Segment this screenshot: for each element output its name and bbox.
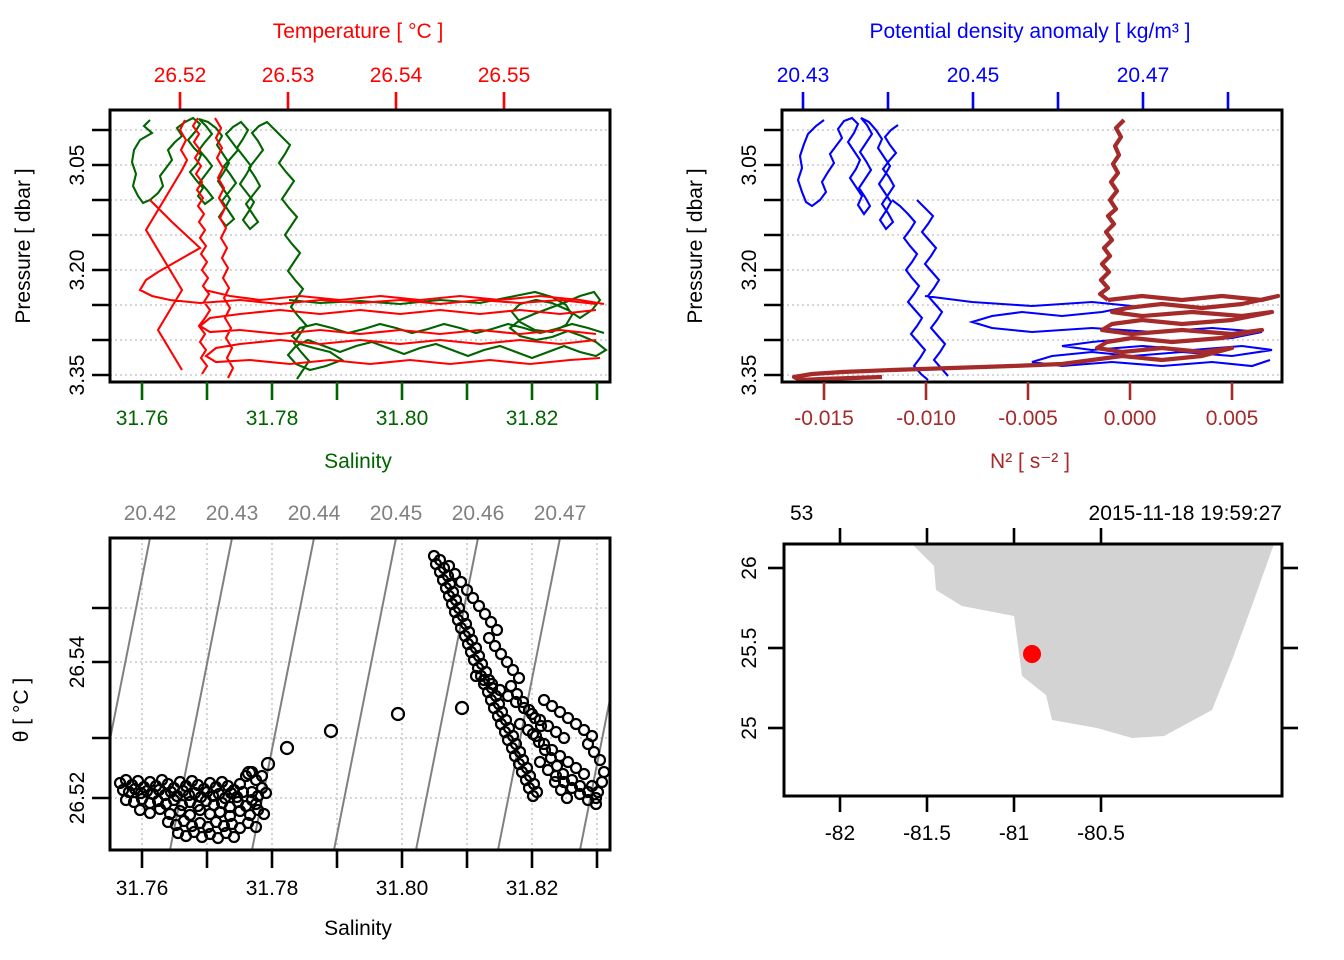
- svg-text:31.82: 31.82: [506, 407, 559, 430]
- density-label-text: Potential density anomaly [ kg/m³ ]: [870, 20, 1191, 43]
- y-axis-ticks-pressure: [92, 130, 110, 375]
- panel-temperature-salinity-profile: Temperature [ °C ] 26.52 26.53 26.54 26.…: [0, 0, 672, 480]
- map-top-ticks: [840, 528, 1101, 544]
- x-axis-ticklabels-salinity: 31.76 31.78 31.80 31.82: [116, 877, 559, 900]
- svg-text:-81: -81: [999, 822, 1029, 845]
- ts-scatter-points: [115, 551, 609, 843]
- svg-text:31.78: 31.78: [246, 877, 299, 900]
- y-axis-ticklabels-pressure: 3.05 3.20 3.35: [738, 145, 761, 396]
- svg-text:31.78: 31.78: [246, 407, 299, 430]
- svg-text:25: 25: [738, 716, 761, 739]
- y-axis-ticklabels-theta: 26.54 26.52: [66, 635, 89, 824]
- y-axis-label-pressure: Pressure [ dbar ]: [12, 168, 35, 323]
- svg-text:-81.5: -81.5: [903, 822, 951, 845]
- svg-text:20.46: 20.46: [452, 502, 505, 525]
- top-axis-ticklabels-temperature: 26.52 26.53 26.54 26.55: [154, 64, 531, 87]
- svg-text:-80.5: -80.5: [1077, 822, 1125, 845]
- svg-text:26: 26: [738, 556, 761, 579]
- svg-text:20.43: 20.43: [777, 64, 830, 87]
- svg-text:31.80: 31.80: [376, 407, 429, 430]
- map-left-ticklabels: 26 25.5 25: [738, 556, 761, 739]
- bottom-axis-ticks-n2: [824, 382, 1232, 400]
- top-axis-label-temperature: Temperature [ °C ]: [273, 20, 444, 43]
- svg-text:20.45: 20.45: [947, 64, 1000, 87]
- svg-text:3.20: 3.20: [738, 250, 761, 291]
- svg-text:20.43: 20.43: [206, 502, 259, 525]
- panel-density-n2-profile: Potential density anomaly [ kg/m³ ] 20.4…: [672, 0, 1344, 480]
- timestamp-label: 2015-11-18 19:59:27: [1089, 502, 1282, 525]
- svg-text:31.76: 31.76: [116, 407, 169, 430]
- svg-text:20.44: 20.44: [288, 502, 341, 525]
- figure-root: Temperature [ °C ] 26.52 26.53 26.54 26.…: [0, 0, 1344, 960]
- top-axis-ticklabels-density: 20.43 20.45 20.47: [777, 64, 1170, 87]
- svg-text:0.000: 0.000: [1104, 407, 1157, 430]
- svg-text:3.05: 3.05: [738, 145, 761, 186]
- svg-text:26.52: 26.52: [66, 772, 89, 825]
- x-axis-label-salinity: Salinity: [324, 917, 392, 940]
- cluster-salty: [429, 551, 609, 809]
- svg-text:3.20: 3.20: [66, 250, 89, 291]
- svg-text:-0.005: -0.005: [998, 407, 1058, 430]
- top-axis-ticks-temperature: [180, 92, 504, 110]
- svg-text:26.53: 26.53: [262, 64, 315, 87]
- top-axis-ticks-density: [803, 92, 1228, 110]
- svg-text:25.5: 25.5: [738, 628, 761, 669]
- svg-text:3.35: 3.35: [66, 355, 89, 396]
- svg-text:-0.010: -0.010: [896, 407, 956, 430]
- x-axis-ticks-salinity: [142, 850, 597, 868]
- station-marker: [1023, 645, 1041, 663]
- svg-text:20.45: 20.45: [370, 502, 423, 525]
- map-bottom-ticklabels: -82 -81.5 -81 -80.5: [825, 822, 1125, 845]
- svg-text:3.35: 3.35: [738, 355, 761, 396]
- y-axis-label-pressure: Pressure [ dbar ]: [684, 168, 707, 323]
- svg-text:31.82: 31.82: [506, 877, 559, 900]
- svg-text:-0.015: -0.015: [794, 407, 854, 430]
- svg-text:0.005: 0.005: [1206, 407, 1259, 430]
- top-axis-label-density: Potential density anomaly [ kg/m³ ]: [870, 20, 1191, 43]
- svg-text:31.76: 31.76: [116, 877, 169, 900]
- series-n2-trace: [794, 120, 1278, 380]
- bottom-axis-ticks-salinity: [142, 382, 597, 400]
- svg-text:26.55: 26.55: [478, 64, 531, 87]
- y-axis-label-theta: θ [ °C ]: [10, 678, 33, 742]
- bottom-axis-label-salinity: Salinity: [324, 450, 392, 473]
- station-number-label: 53: [790, 502, 813, 525]
- svg-text:26.54: 26.54: [66, 635, 89, 688]
- svg-text:26.54: 26.54: [370, 64, 423, 87]
- svg-text:3.05: 3.05: [66, 145, 89, 186]
- bottom-axis-ticklabels-n2: -0.015 -0.010 -0.005 0.000 0.005: [794, 407, 1258, 430]
- y-axis-ticks-pressure: [764, 130, 782, 375]
- map-bottom-ticks: [840, 796, 1101, 812]
- svg-text:20.47: 20.47: [1117, 64, 1170, 87]
- y-axis-ticklabels-pressure: 3.05 3.20 3.35: [66, 145, 89, 396]
- map-left-ticks: [768, 568, 784, 728]
- plot-grid: [110, 130, 610, 375]
- svg-text:20.42: 20.42: [124, 502, 177, 525]
- bottom-axis-label-n2: N² [ s⁻² ]: [990, 450, 1070, 473]
- land-polygon: [912, 544, 1274, 738]
- y-axis-ticks-theta: [92, 608, 110, 798]
- panel-station-map: 53 2015-11-18 19:59:27 26 25.5 25: [672, 480, 1344, 960]
- panel-ts-diagram: 20.42 20.43 20.44 20.45 20.46 20.47 20.4…: [0, 480, 672, 960]
- isopycnal-top-labels: 20.42 20.43 20.44 20.45 20.46 20.47: [124, 502, 587, 525]
- svg-text:26.52: 26.52: [154, 64, 207, 87]
- map-right-ticks: [1282, 568, 1298, 728]
- svg-text:31.80: 31.80: [376, 877, 429, 900]
- svg-text:-82: -82: [825, 822, 855, 845]
- svg-text:20.47: 20.47: [534, 502, 587, 525]
- bottom-axis-ticklabels-salinity: 31.76 31.78 31.80 31.82: [116, 407, 559, 430]
